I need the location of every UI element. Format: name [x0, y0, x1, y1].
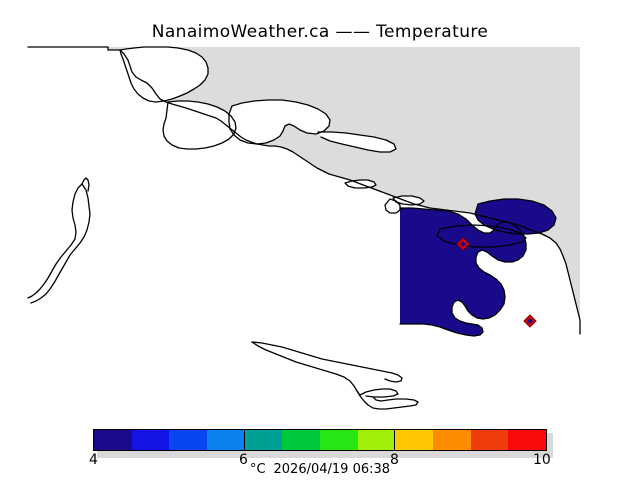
colorbar-swatch-7: [358, 430, 396, 450]
colorbar-tick-mid-2: 8: [390, 452, 399, 468]
coastline-south-island-south: [252, 342, 360, 395]
colorbar-swatch-9: [433, 430, 471, 450]
colorbar-tick-mid-1: 6: [239, 452, 248, 468]
colorbar-tick-min: 4: [89, 452, 98, 468]
coastline-west-island: [31, 184, 90, 303]
colorbar-swatch-8: [394, 430, 433, 450]
colorbar-swatch-11: [508, 430, 546, 450]
colorbar-swatch-10: [471, 430, 509, 450]
colorbar-swatch-6: [320, 430, 358, 450]
legend-timestamp: 2026/04/19 06:38: [274, 462, 391, 477]
colorbar-swatch-3: [207, 430, 245, 450]
coastline-south-island-north: [252, 342, 392, 373]
colorbar-swatch-1: [132, 430, 170, 450]
coastline-south-island-fork-2: [357, 391, 418, 409]
colorbar[interactable]: [93, 429, 547, 451]
legend-unit: °C: [250, 462, 266, 477]
map-graphic: [0, 44, 640, 414]
colorbar-swatch-4: [244, 430, 283, 450]
map-canvas[interactable]: [0, 44, 640, 414]
colorbar-swatch-2: [169, 430, 207, 450]
colorbar-shadow: [97, 451, 553, 458]
weather-map-page: NanaimoWeather.ca —— Temperature: [0, 0, 640, 480]
colorbar-swatch-0: [94, 430, 132, 450]
coastline-south-island-fork-1: [360, 389, 398, 397]
page-title: NanaimoWeather.ca —— Temperature: [0, 22, 640, 42]
station-marker-2[interactable]: [524, 315, 536, 327]
colorbar-tick-max: 10: [533, 452, 551, 468]
colorbar-shadow-right: [547, 433, 553, 455]
coastline-south-island-tail: [385, 373, 402, 382]
colorbar-swatch-5: [282, 430, 320, 450]
legend-caption: °C2026/04/19 06:38: [0, 462, 640, 477]
